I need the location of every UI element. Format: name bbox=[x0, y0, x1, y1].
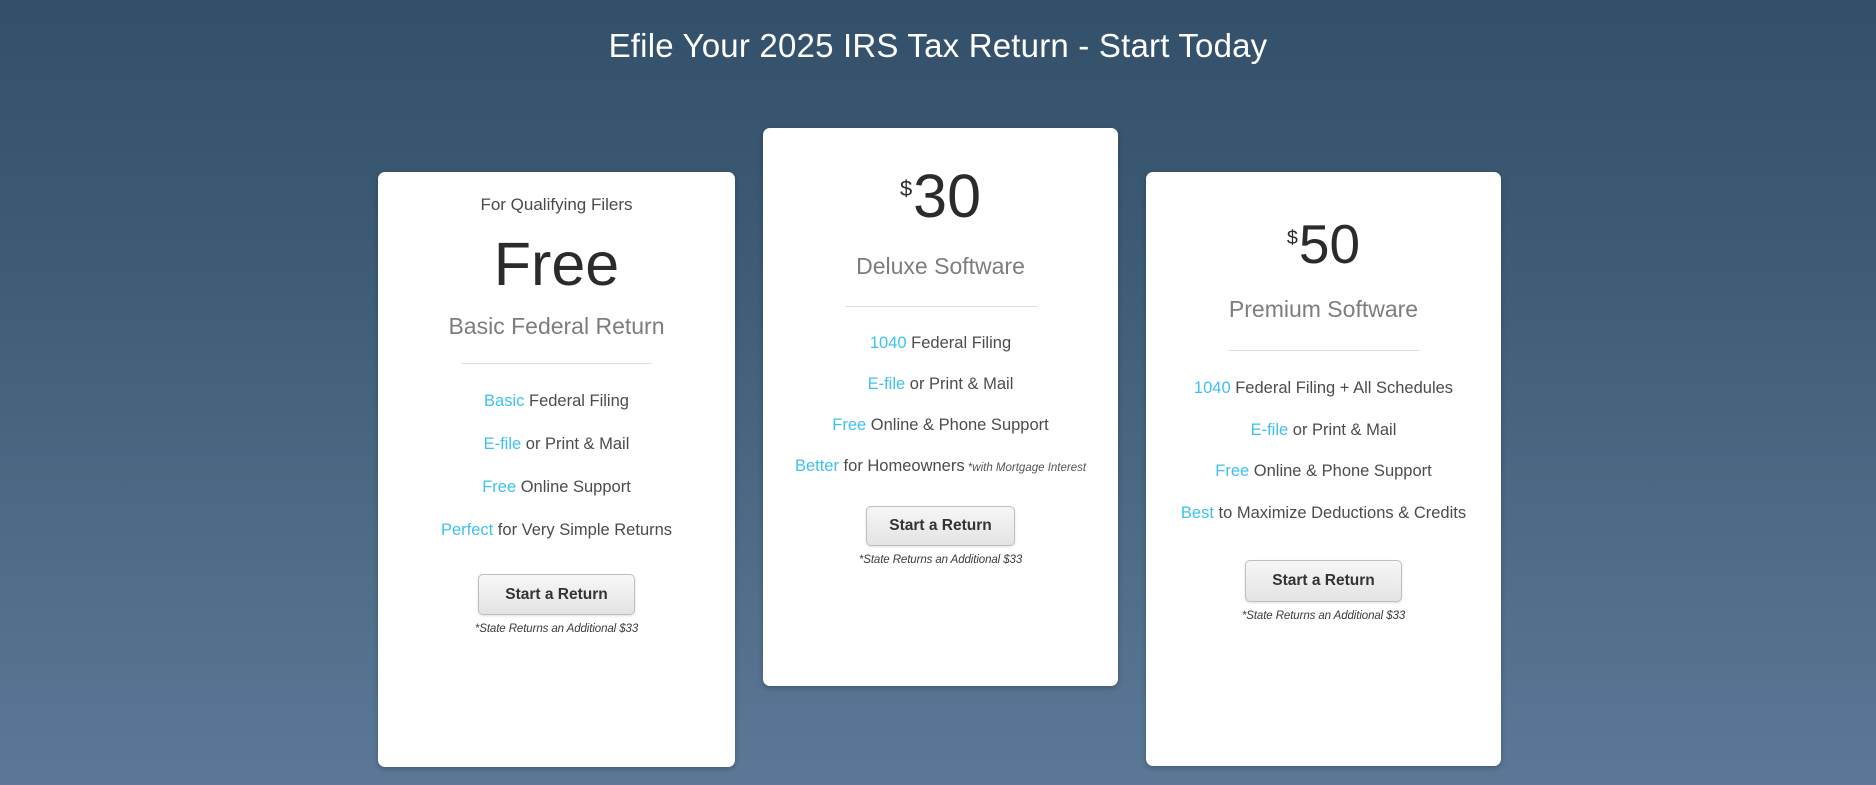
feature-text: Online & Phone Support bbox=[866, 416, 1049, 434]
cta-wrapper: Start a Return *State Returns an Additio… bbox=[400, 574, 713, 636]
feature-highlight: Best bbox=[1181, 504, 1214, 522]
list-item: 1040 Federal Filing + All Schedules bbox=[1168, 367, 1479, 409]
card-divider bbox=[462, 363, 652, 364]
feature-text: Federal Filing + All Schedules bbox=[1231, 379, 1453, 397]
feature-text: or Print & Mail bbox=[1288, 421, 1396, 439]
pricing-card-premium[interactable]: $50 Premium Software 1040 Federal Filing… bbox=[1146, 172, 1501, 766]
start-a-return-button[interactable]: Start a Return bbox=[478, 574, 635, 616]
cta-wrapper: Start a Return *State Returns an Additio… bbox=[1168, 560, 1479, 622]
card-plan-name: Basic Federal Return bbox=[400, 311, 713, 341]
start-a-return-button[interactable]: Start a Return bbox=[866, 506, 1015, 546]
pricing-card-deluxe[interactable]: $30 Deluxe Software 1040 Federal Filing … bbox=[763, 128, 1118, 686]
feature-text: or Print & Mail bbox=[905, 375, 1013, 393]
card-divider bbox=[1228, 350, 1420, 351]
feature-text: or Print & Mail bbox=[521, 435, 629, 453]
pricing-card-free[interactable]: For Qualifying Filers Free Basic Federal… bbox=[378, 172, 735, 767]
feature-highlight: Better bbox=[795, 457, 839, 475]
card-price: Free bbox=[400, 234, 713, 295]
card-plan-name: Deluxe Software bbox=[785, 251, 1096, 281]
list-item: E-file or Print & Mail bbox=[400, 423, 713, 466]
list-item: Best to Maximize Deductions & Credits bbox=[1168, 493, 1479, 535]
feature-highlight: 1040 bbox=[1194, 379, 1231, 397]
list-item: E-file or Print & Mail bbox=[1168, 409, 1479, 451]
currency-symbol: $ bbox=[900, 176, 912, 201]
card-feature-list: Basic Federal Filing E-file or Print & M… bbox=[400, 380, 713, 551]
feature-text: Online & Phone Support bbox=[1249, 462, 1432, 480]
cta-footnote: *State Returns an Additional $33 bbox=[400, 623, 713, 635]
feature-text: for Very Simple Returns bbox=[493, 521, 672, 539]
feature-highlight: Perfect bbox=[441, 521, 493, 539]
card-price: $50 bbox=[1168, 217, 1479, 272]
list-item: E-file or Print & Mail bbox=[785, 364, 1096, 405]
start-a-return-button[interactable]: Start a Return bbox=[1245, 560, 1402, 602]
feature-highlight: Free bbox=[832, 416, 866, 434]
feature-text: Online Support bbox=[516, 478, 631, 496]
cta-wrapper: Start a Return *State Returns an Additio… bbox=[785, 506, 1096, 566]
currency-symbol: $ bbox=[1287, 227, 1298, 249]
card-feature-list: 1040 Federal Filing E-file or Print & Ma… bbox=[785, 323, 1096, 486]
price-amount: Free bbox=[494, 230, 619, 298]
feature-text: Federal Filing bbox=[907, 334, 1012, 352]
feature-footnote: *with Mortgage Interest bbox=[965, 462, 1086, 474]
price-amount: 30 bbox=[913, 162, 981, 230]
feature-highlight: E-file bbox=[484, 435, 522, 453]
feature-highlight: Free bbox=[1215, 462, 1249, 480]
list-item: Perfect for Very Simple Returns bbox=[400, 509, 713, 552]
card-divider bbox=[845, 306, 1037, 307]
feature-highlight: Free bbox=[482, 478, 516, 496]
list-item: Basic Federal Filing bbox=[400, 380, 713, 423]
card-price: $30 bbox=[785, 166, 1096, 227]
list-item: Free Online Support bbox=[400, 466, 713, 509]
price-amount: 50 bbox=[1299, 213, 1360, 275]
cta-footnote: *State Returns an Additional $33 bbox=[1168, 610, 1479, 622]
feature-highlight: 1040 bbox=[870, 334, 907, 352]
feature-text: Federal Filing bbox=[524, 392, 629, 410]
list-item: 1040 Federal Filing bbox=[785, 323, 1096, 364]
feature-text: for Homeowners bbox=[839, 457, 965, 475]
feature-highlight: Basic bbox=[484, 392, 524, 410]
feature-highlight: E-file bbox=[1251, 421, 1289, 439]
list-item: Free Online & Phone Support bbox=[1168, 451, 1479, 493]
list-item: Better for Homeowners *with Mortgage Int… bbox=[785, 446, 1096, 487]
card-plan-name: Premium Software bbox=[1168, 294, 1479, 324]
card-feature-list: 1040 Federal Filing + All Schedules E-fi… bbox=[1168, 367, 1479, 534]
pricing-cards-row: For Qualifying Filers Free Basic Federal… bbox=[0, 0, 1876, 785]
feature-highlight: E-file bbox=[868, 375, 906, 393]
feature-text: to Maximize Deductions & Credits bbox=[1214, 504, 1466, 522]
card-eyebrow: For Qualifying Filers bbox=[400, 194, 713, 216]
cta-footnote: *State Returns an Additional $33 bbox=[785, 554, 1096, 566]
list-item: Free Online & Phone Support bbox=[785, 405, 1096, 446]
